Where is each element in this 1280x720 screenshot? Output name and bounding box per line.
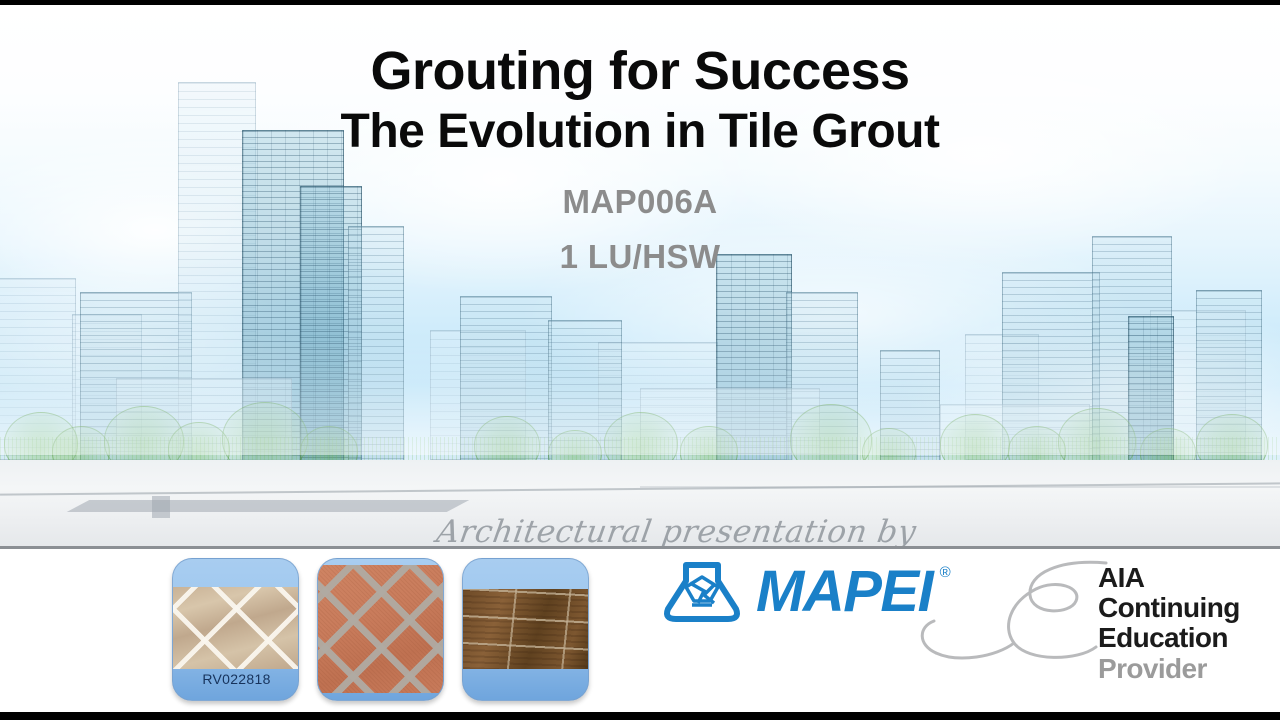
tile-thumbnail-wood[interactable]	[462, 558, 589, 701]
plaza-wedge	[67, 500, 470, 512]
title-block: Grouting for Success The Evolution in Ti…	[0, 0, 1280, 273]
ground-plaza	[0, 460, 1280, 548]
letterbox-top-bar	[0, 0, 1280, 5]
plaza-wedge	[152, 496, 170, 518]
terracotta-diagonal-tile-image	[318, 565, 444, 693]
aia-line-2: Continuing	[1098, 594, 1240, 622]
slide-title-line-2: The Evolution in Tile Grout	[0, 105, 1280, 159]
mapei-wordmark-text: MAPEI	[756, 559, 932, 624]
slide-title-line-1: Grouting for Success	[0, 43, 1280, 99]
aia-line-3: Education	[1098, 624, 1240, 652]
credit-units: 1 LU/HSW	[0, 240, 1280, 273]
footer-bar: RV022818 MAPEI	[0, 549, 1280, 712]
footer-divider-line	[0, 546, 1280, 549]
tile-thumbnail-travertine[interactable]: RV022818	[172, 558, 299, 701]
aia-ces-provider-logo: AIA Continuing Education Provider	[1098, 564, 1240, 683]
mapei-recycling-flask-icon	[660, 559, 744, 625]
aia-line-4: Provider	[1098, 655, 1240, 683]
revision-code-label: RV022818	[173, 671, 299, 687]
travertine-diagonal-tile-image	[173, 587, 299, 669]
course-code: MAP006A	[0, 185, 1280, 218]
mapei-logo[interactable]: MAPEI ®	[660, 559, 932, 625]
plaza-edge-line	[0, 482, 1280, 495]
registered-trademark-icon: ®	[940, 565, 950, 580]
tile-thumbnail-group: RV022818	[172, 558, 589, 701]
letterbox-bottom-bar	[0, 712, 1280, 720]
dark-wood-plank-tile-image	[463, 589, 589, 669]
mapei-wordmark: MAPEI ®	[756, 563, 932, 621]
tile-thumbnail-terracotta[interactable]	[317, 558, 444, 701]
presentation-title-slide: Grouting for Success The Evolution in Ti…	[0, 0, 1280, 720]
aia-line-1: AIA	[1098, 564, 1240, 592]
plaza-edge-line	[640, 486, 1280, 488]
